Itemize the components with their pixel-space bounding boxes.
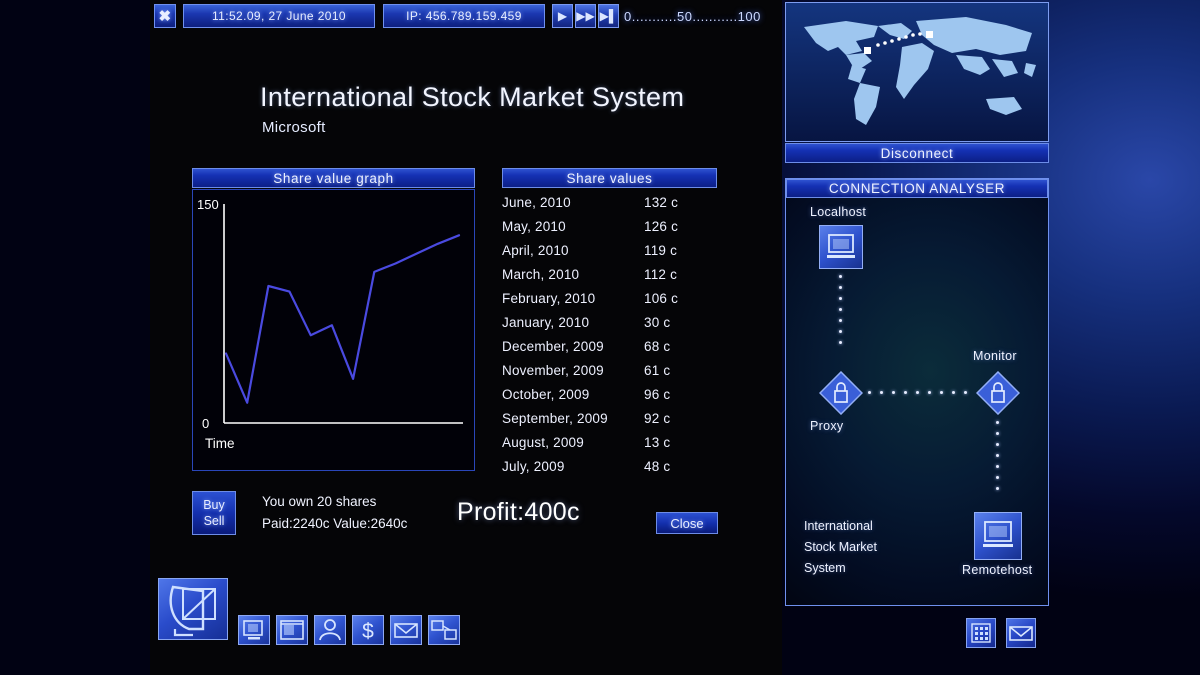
skip-end-icon[interactable]: ▶▌ bbox=[598, 4, 619, 28]
keypad-icon[interactable] bbox=[966, 618, 996, 648]
monitor-node[interactable] bbox=[976, 371, 1020, 415]
close-button[interactable]: Close bbox=[656, 512, 718, 534]
share-value-amount: 119 c bbox=[644, 243, 714, 258]
share-value-row: October, 200996 c bbox=[502, 382, 730, 406]
keypad-glyph bbox=[967, 619, 995, 647]
share-value-month: August, 2009 bbox=[502, 435, 644, 450]
mail-glyph bbox=[1007, 619, 1035, 647]
fast-forward-icon[interactable]: ▶▶ bbox=[575, 4, 596, 28]
computer-glyph bbox=[239, 616, 269, 644]
disconnect-button[interactable]: Disconnect bbox=[785, 143, 1049, 163]
person-icon[interactable] bbox=[314, 615, 346, 645]
lock-diamond-icon bbox=[976, 371, 1020, 415]
share-value-row: May, 2010126 c bbox=[502, 214, 730, 238]
share-value-amount: 126 c bbox=[644, 219, 714, 234]
window-glyph bbox=[277, 616, 307, 644]
share-values-list: June, 2010132 cMay, 2010126 cApril, 2010… bbox=[502, 190, 730, 475]
share-value-amount: 48 c bbox=[644, 459, 714, 474]
share-value-amount: 106 c bbox=[644, 291, 714, 306]
analyser-header: CONNECTION ANALYSER bbox=[786, 179, 1048, 198]
share-value-month: January, 2010 bbox=[502, 315, 644, 330]
app-screen: ✖ 11:52.09, 27 June 2010 IP: 456.789.159… bbox=[150, 0, 1200, 675]
connection-analyser-panel: CONNECTION ANALYSER Localhost Pr bbox=[785, 178, 1049, 606]
main-console-panel: ✖ 11:52.09, 27 June 2010 IP: 456.789.159… bbox=[150, 0, 782, 675]
sell-label[interactable]: Sell bbox=[204, 513, 225, 529]
share-value-month: May, 2010 bbox=[502, 219, 644, 234]
link-localhost-proxy bbox=[839, 275, 842, 352]
link-proxy-monitor bbox=[868, 391, 978, 397]
play-icon[interactable]: ▶ bbox=[552, 4, 573, 28]
share-value-month: October, 2009 bbox=[502, 387, 644, 402]
graph-svg: 150 0 Time bbox=[193, 190, 474, 470]
share-value-amount: 112 c bbox=[644, 267, 714, 282]
shares-owned-text: You own 20 shares bbox=[262, 494, 376, 509]
page-title: International Stock Market System bbox=[260, 82, 684, 113]
envelope-icon[interactable] bbox=[390, 615, 422, 645]
monitor-label: Monitor bbox=[973, 349, 1017, 363]
ip-display: IP: 456.789.159.459 bbox=[383, 4, 545, 28]
remotehost-label: Remotehost bbox=[962, 563, 1032, 577]
buy-sell-button[interactable]: Buy Sell bbox=[192, 491, 236, 535]
share-value-row: July, 200948 c bbox=[502, 454, 730, 478]
target-host-text: International Stock Market System bbox=[804, 516, 877, 579]
remotehost-node[interactable] bbox=[974, 512, 1022, 560]
envelope-glyph bbox=[391, 616, 421, 644]
share-value-month: November, 2009 bbox=[502, 363, 644, 378]
x-axis-label: Time bbox=[205, 436, 235, 451]
buy-label[interactable]: Buy bbox=[203, 497, 225, 513]
share-value-amount: 13 c bbox=[644, 435, 714, 450]
share-value-row: April, 2010119 c bbox=[502, 238, 730, 262]
link-monitor-remotehost bbox=[996, 421, 999, 498]
devices-glyph bbox=[429, 616, 459, 644]
window-icon[interactable] bbox=[276, 615, 308, 645]
share-value-amount: 92 c bbox=[644, 411, 714, 426]
share-value-row: March, 2010112 c bbox=[502, 262, 730, 286]
share-value-graph: 150 0 Time bbox=[192, 189, 475, 471]
target-line-1: International bbox=[804, 516, 877, 537]
share-value-line bbox=[226, 235, 459, 402]
satellite-dish-icon[interactable] bbox=[158, 578, 228, 640]
proxy-label: Proxy bbox=[810, 419, 843, 433]
share-value-amount: 132 c bbox=[644, 195, 714, 210]
dollar-glyph: $ bbox=[353, 616, 383, 644]
svg-text:$: $ bbox=[362, 620, 374, 643]
world-map-panel[interactable] bbox=[785, 2, 1049, 142]
localhost-node[interactable] bbox=[819, 225, 863, 269]
top-status-bar: ✖ 11:52.09, 27 June 2010 IP: 456.789.159… bbox=[150, 4, 782, 28]
graph-panel-header: Share value graph bbox=[192, 168, 475, 188]
share-value-amount: 96 c bbox=[644, 387, 714, 402]
y-axis-max-label: 150 bbox=[197, 197, 219, 212]
share-value-month: February, 2010 bbox=[502, 291, 644, 306]
dollar-icon[interactable]: $ bbox=[352, 615, 384, 645]
share-value-month: December, 2009 bbox=[502, 339, 644, 354]
share-value-month: April, 2010 bbox=[502, 243, 644, 258]
share-value-amount: 68 c bbox=[644, 339, 714, 354]
right-column: Disconnect CONNECTION ANALYSER Localhost bbox=[783, 0, 1200, 675]
share-value-month: March, 2010 bbox=[502, 267, 644, 282]
person-glyph bbox=[315, 616, 345, 644]
share-value-row: December, 200968 c bbox=[502, 334, 730, 358]
page-subtitle: Microsoft bbox=[262, 119, 326, 136]
satellite-dish-glyph bbox=[159, 579, 227, 639]
share-values-header: Share values bbox=[502, 168, 717, 188]
world-map-icon bbox=[786, 3, 1048, 141]
share-value-row: February, 2010106 c bbox=[502, 286, 730, 310]
share-value-row: August, 200913 c bbox=[502, 430, 730, 454]
devices-icon[interactable] bbox=[428, 615, 460, 645]
computer-icon[interactable] bbox=[238, 615, 270, 645]
share-value-row: June, 2010132 c bbox=[502, 190, 730, 214]
share-value-row: January, 201030 c bbox=[502, 310, 730, 334]
laptop-icon bbox=[975, 513, 1021, 559]
target-line-2: Stock Market bbox=[804, 537, 877, 558]
clock-display: 11:52.09, 27 June 2010 bbox=[183, 4, 375, 28]
speed-scale[interactable]: 0...........50...........100 bbox=[624, 6, 779, 26]
close-x-icon[interactable]: ✖ bbox=[154, 4, 176, 28]
target-line-3: System bbox=[804, 558, 877, 579]
mail-icon[interactable] bbox=[1006, 618, 1036, 648]
proxy-node[interactable] bbox=[819, 371, 863, 415]
share-value-amount: 30 c bbox=[644, 315, 714, 330]
paid-value-text: Paid:2240c Value:2640c bbox=[262, 516, 407, 531]
share-value-month: July, 2009 bbox=[502, 459, 644, 474]
share-value-amount: 61 c bbox=[644, 363, 714, 378]
laptop-icon bbox=[820, 226, 862, 268]
share-value-month: September, 2009 bbox=[502, 411, 644, 426]
share-value-row: September, 200992 c bbox=[502, 406, 730, 430]
y-axis-min-label: 0 bbox=[202, 416, 209, 431]
profit-text: Profit:400c bbox=[457, 498, 580, 527]
localhost-label: Localhost bbox=[810, 205, 866, 219]
share-value-month: June, 2010 bbox=[502, 195, 644, 210]
lock-diamond-icon bbox=[819, 371, 863, 415]
share-value-row: November, 200961 c bbox=[502, 358, 730, 382]
